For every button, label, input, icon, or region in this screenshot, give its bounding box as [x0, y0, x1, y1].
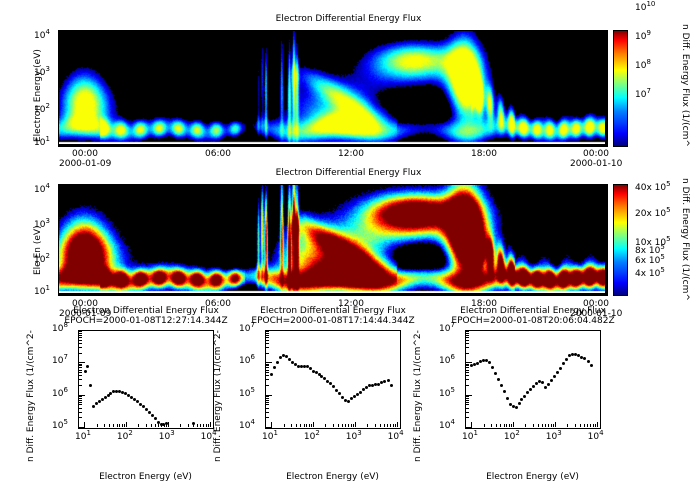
spectrum-3-ytick-minor: [466, 353, 469, 354]
spectrum-1-xtick-minor: [104, 424, 105, 427]
spectrum-2-ytick-minor: [266, 385, 269, 386]
spectrum-3-ytick-minor: [466, 337, 469, 338]
spectrum-1-plot[interactable]: [78, 330, 214, 429]
spectrum-3-xtick-minor: [525, 424, 526, 427]
middle-ytick-2-mant: 10: [34, 255, 45, 265]
spectrum-1-xtick-minor: [206, 424, 207, 427]
middle-ytick-4-exp: 4: [45, 182, 49, 190]
ytick-exp: 4: [250, 418, 254, 426]
data-point: [587, 360, 590, 363]
data-point: [491, 366, 494, 369]
spectrum-3-xtick-minor: [542, 424, 543, 427]
spectrum-3-title: Electron Differential Energy Flux: [403, 306, 663, 316]
top-cbar-tick-7-exp: 7: [646, 87, 650, 95]
spectrum-2-ytick-minor: [266, 396, 269, 397]
spectrum-3-xtick-mark: [513, 422, 514, 427]
spectrum-3-ytick-minor: [466, 412, 469, 413]
top-cbar-tick-10-exp: 10: [646, 0, 655, 8]
top-spectrogram[interactable]: [58, 30, 608, 147]
spectrum-1-ytick-minor: [79, 335, 82, 336]
middle-cbar-tick-4: 4x 105: [635, 269, 665, 279]
spectrum-2-ytick-minor: [266, 367, 269, 368]
spectrum-3-xtick-minor: [548, 424, 549, 427]
spectrum-1-xtick-3: 103: [159, 432, 175, 442]
spectrum-1-ytick-minor: [79, 372, 82, 373]
spectrum-3-xtick-mark: [471, 422, 472, 427]
top-cbar-tick-7-mant: 10: [635, 90, 646, 100]
spectrum-2-ytick-minor: [266, 400, 269, 401]
top-xtick-5: 00:00: [583, 149, 609, 159]
data-point: [500, 384, 503, 387]
spectrum-1-xtick-minor: [113, 424, 114, 427]
spectrum-3-ytick-4: 107: [439, 324, 455, 334]
spectrum-2-xtick-minor: [325, 424, 326, 427]
spectrum-1-xtick-minor: [180, 424, 181, 427]
middle-cbar-tick-6: 6x 105: [635, 256, 665, 266]
spectrum-2-ytick-minor: [266, 404, 269, 405]
ytick-mant: 10: [52, 324, 63, 334]
xtick-mant: 10: [159, 432, 170, 442]
top-xtick-2: 06:00: [205, 149, 231, 159]
spectrum-3-ytick-minor: [466, 408, 469, 409]
top-cbar-tick-10: 1010: [635, 3, 655, 13]
spectrum-2-ytick-minor: [266, 398, 269, 399]
xtick-exp: 1: [473, 429, 477, 437]
spectrum-3-ytick-mark: [466, 330, 472, 331]
top-ytick-3-mant: 10: [34, 68, 45, 78]
spectrum-2-ytick-minor: [266, 372, 269, 373]
spectrum-1-ytick-minor: [79, 404, 82, 405]
spectrum-2-ytick-minor: [266, 335, 269, 336]
middle-ytick-3-mant: 10: [34, 220, 45, 230]
ytick-exp: 5: [63, 418, 67, 426]
spectrum-2-ytick-minor: [266, 343, 269, 344]
spectrum-3-xtick-minor: [484, 424, 485, 427]
spectrum-2-xtick-minor: [367, 424, 368, 427]
spectrum-1-ylabel: n Diff. Energy Flux (1/(cm^2-: [26, 312, 36, 462]
spectrum-2-ytick-4: 107: [239, 324, 255, 334]
xtick-mant: 10: [262, 432, 273, 442]
spectrum-1-ytick-minor: [79, 333, 82, 334]
top-ytick-2-exp: 2: [45, 102, 49, 110]
spectrum-3-xtick-minor: [509, 424, 510, 427]
middle-cbar-tick-40-mant: 40: [635, 183, 646, 193]
spectrum-2-xtick-minor: [291, 424, 292, 427]
data-point: [276, 361, 279, 364]
data-point: [151, 414, 154, 417]
xtick-exp: 2: [128, 429, 132, 437]
top-cbar-tick-9: 109: [635, 32, 651, 42]
spectrum-2-xtick-mark: [355, 422, 356, 427]
spectrum-2-ytick-minor: [266, 333, 269, 334]
spectrum-3-ytick-minor: [466, 398, 469, 399]
spectrum-2-xlabel: Electron Energy (eV): [245, 472, 420, 482]
spectrum-3-ytick-1: 104: [439, 421, 455, 431]
spectrum-3-ytick-minor: [466, 343, 469, 344]
spectrum-3-xtick-minor: [551, 424, 552, 427]
spectrum-1-xtick-minor: [97, 424, 98, 427]
spectrum-2-xtick-minor: [333, 424, 334, 427]
ytick-mant: 10: [439, 421, 450, 431]
spectrum-3-xtick-minor: [595, 424, 596, 427]
middle-cbar-tick-40: 40x 105: [635, 183, 671, 193]
spectrum-3-ytick-2: 105: [439, 389, 455, 399]
data-point: [291, 361, 294, 364]
spectrum-3-ytick-minor: [466, 367, 469, 368]
spectrum-3-xtick-mark: [597, 422, 598, 427]
spectrum-1-xtick-minor: [197, 424, 198, 427]
ytick-exp: 7: [450, 321, 454, 329]
spectrum-2-xtick-4: 104: [388, 432, 404, 442]
spectrum-2-plot[interactable]: [265, 330, 401, 429]
spectrum-1-ytick-minor: [79, 343, 82, 344]
spectrum-2-ytick-minor: [266, 331, 269, 332]
data-point: [506, 397, 509, 400]
xtick-mant: 10: [75, 432, 86, 442]
spectrum-1-xtick-2: 102: [117, 432, 133, 442]
spectrum-3-xtick-minor: [533, 424, 534, 427]
ytick-mant: 10: [239, 324, 250, 334]
spectrum-2-ytick-minor: [266, 340, 269, 341]
middle-cbar-tick-6-mant: 6: [635, 256, 641, 266]
spectrum-3-xtick-minor: [506, 424, 507, 427]
xtick-mant: 10: [201, 432, 212, 442]
spectrum-3-ytick-minor: [466, 396, 469, 397]
spectrum-3-ytick-mark: [466, 427, 472, 428]
data-point: [488, 361, 491, 364]
spectrum-2-xtick-minor: [348, 424, 349, 427]
top-ytick-4: 104: [34, 31, 50, 41]
spectrum-1-ytick-minor: [79, 417, 82, 418]
spectrum-2-xtick-minor: [351, 424, 352, 427]
spectrum-3-xtick-3: 103: [546, 432, 562, 442]
spectrum-2-ylabel: n Diff. Energy Flux (1/(cm^2-: [213, 312, 223, 462]
spectrum-1-ytick-2: 106: [52, 389, 68, 399]
spectrum-2-ytick-minor: [266, 337, 269, 338]
spectrum-2-ytick-2: 105: [239, 389, 255, 399]
spectrum-3-xtick-minor: [553, 424, 554, 427]
top-cbar-tick-9-exp: 9: [646, 29, 650, 37]
xtick-mant: 10: [546, 432, 557, 442]
spectrum-1-xlabel: Electron Energy (eV): [58, 472, 233, 482]
spectrum-2-xtick-minor: [309, 424, 310, 427]
middle-spectrogram[interactable]: [58, 184, 608, 296]
ytick-mant: 10: [239, 421, 250, 431]
middle-cbar-tick-4-exp: 5: [660, 266, 664, 274]
spectrum-3-ytick-minor: [466, 364, 469, 365]
spectrum-2-ytick-minor: [266, 347, 269, 348]
middle-ytick-3-exp: 3: [45, 217, 49, 225]
spectrum-1-ytick-minor: [79, 370, 82, 371]
spectrum-3-ytick-mark: [466, 395, 472, 396]
spectrum-1-xtick-minor: [138, 424, 139, 427]
ytick-exp: 6: [250, 353, 254, 361]
spectrum-2-xtick-2: 102: [304, 432, 320, 442]
top-xtick-4: 18:00: [471, 149, 497, 159]
ytick-exp: 5: [450, 386, 454, 394]
spectrum-1-xtick-mark: [126, 422, 127, 427]
spectrum-3-xtick-minor: [580, 424, 581, 427]
top-cbar-tick-8-exp: 8: [646, 58, 650, 66]
data-point: [497, 378, 500, 381]
data-point: [503, 390, 506, 393]
spectrum-1-xtick-minor: [208, 424, 209, 427]
data-point: [270, 373, 273, 376]
spectrum-3-xtick-minor: [590, 424, 591, 427]
spectrum-3-xtick-1: 101: [462, 432, 478, 442]
spectrum-3-ytick-minor: [466, 417, 469, 418]
spectrum-1-xtick-minor: [122, 424, 123, 427]
spectrum-3-xlabel: Electron Energy (eV): [445, 472, 620, 482]
spectrum-2-xtick-minor: [296, 424, 297, 427]
middle-ytick-4: 104: [34, 185, 50, 195]
data-point: [92, 405, 95, 408]
spectrum-1-ytick-mark: [79, 395, 85, 396]
data-point: [515, 406, 518, 409]
spectrum-2-ytick-minor: [266, 412, 269, 413]
top-cbar-tick-8-mant: 10: [635, 61, 646, 71]
top-xtick-1: 00:00: [72, 149, 98, 159]
top-ytick-3: 103: [34, 68, 50, 78]
spectrum-2-xtick-minor: [390, 424, 391, 427]
spectrum-2-xtick-3: 103: [346, 432, 362, 442]
xtick-mant: 10: [504, 432, 515, 442]
ytick-mant: 10: [439, 389, 450, 399]
spectrum-3-xtick-minor: [504, 424, 505, 427]
spectrum-2-ytick-minor: [266, 417, 269, 418]
spectrum-2-xtick-minor: [311, 424, 312, 427]
spectrum-1-ytick-minor: [79, 396, 82, 397]
spectrum-1-ytick-minor: [79, 398, 82, 399]
top-ytick-2-mant: 10: [34, 105, 45, 115]
spectrum-2-xtick-mark: [313, 422, 314, 427]
xtick-exp: 1: [86, 429, 90, 437]
spectrum-1-ytick-minor: [79, 353, 82, 354]
top-ytick-2: 102: [34, 105, 50, 115]
top-ytick-1-exp: 1: [45, 135, 49, 143]
middle-cbar-tick-10-exp: 5: [666, 235, 670, 243]
ytick-mant: 10: [439, 356, 450, 366]
spectrum-2-xtick-minor: [387, 424, 388, 427]
spectrum-1-xtick-minor: [200, 424, 201, 427]
xtick-exp: 3: [357, 429, 361, 437]
top-xtick-3: 12:00: [338, 149, 364, 159]
middle-ytick-1-exp: 1: [45, 284, 49, 292]
data-point: [148, 411, 151, 414]
ytick-exp: 7: [63, 353, 67, 361]
middle-cbar-tick-20-mant: 20: [635, 209, 646, 219]
spectrum-3-xtick-minor: [500, 424, 501, 427]
spectrum-2-ytick-mark: [266, 395, 272, 396]
spectrum-2-xtick-minor: [353, 424, 354, 427]
xtick-exp: 4: [599, 429, 603, 437]
spectrum-3-xtick-minor: [567, 424, 568, 427]
top-cbar-tick-7: 107: [635, 90, 651, 100]
spectrum-1-ytick-mark: [79, 362, 85, 363]
top-cbar-tick-9-mant: 10: [635, 32, 646, 42]
spectrum-2-ytick-minor: [266, 353, 269, 354]
data-point: [341, 396, 344, 399]
middle-cbar-tick-6-exp: 5: [660, 253, 664, 261]
xtick-mant: 10: [346, 432, 357, 442]
spectrum-1-ytick-minor: [79, 408, 82, 409]
spectrum-3-xtick-minor: [491, 424, 492, 427]
spectrum-1-ytick-minor: [79, 364, 82, 365]
middle-ytick-4-mant: 10: [34, 185, 45, 195]
middle-panel-title: Electron Differential Energy Flux: [0, 168, 697, 178]
data-point: [335, 389, 338, 392]
spectrum-2-ytick-minor: [266, 408, 269, 409]
middle-ytick-2-exp: 2: [45, 252, 49, 260]
spectrum-3-ytick-minor: [466, 335, 469, 336]
top-ytick-3-exp: 3: [45, 65, 49, 73]
spectrum-3-xtick-minor: [587, 424, 588, 427]
spectrum-3-ytick-minor: [466, 365, 469, 366]
xtick-exp: 3: [170, 429, 174, 437]
spectrum-2-xtick-minor: [338, 424, 339, 427]
top-ytick-4-mant: 10: [34, 31, 45, 41]
spectrum-2-xtick-mark: [397, 422, 398, 427]
spectrum-3-plot[interactable]: [465, 330, 601, 429]
spectrum-3-ytick-minor: [466, 379, 469, 380]
spectrum-1-ytick-minor: [79, 400, 82, 401]
data-point: [86, 365, 89, 368]
spectrum-1-ytick-minor: [79, 375, 82, 376]
ytick-exp: 6: [450, 353, 454, 361]
spectrum-3-ytick-minor: [466, 331, 469, 332]
spectrum-3-ytick-minor: [466, 400, 469, 401]
top-ytick-1-mant: 10: [34, 138, 45, 148]
spectrum-1-xtick-minor: [124, 424, 125, 427]
spectrum-1-ytick-minor: [79, 347, 82, 348]
spectrum-2-xtick-minor: [395, 424, 396, 427]
spectrum-2-xtick-minor: [300, 424, 301, 427]
spectrum-3-ytick-minor: [466, 402, 469, 403]
xtick-exp: 4: [399, 429, 403, 437]
ytick-exp: 8: [63, 321, 67, 329]
middle-ytick-1: 101: [34, 287, 50, 297]
spectrum-2-xtick-minor: [375, 424, 376, 427]
spectrum-2-ytick-minor: [266, 379, 269, 380]
xtick-mant: 10: [588, 432, 599, 442]
middle-ytick-2: 102: [34, 255, 50, 265]
ytick-mant: 10: [439, 324, 450, 334]
spectrum-3-xtick-minor: [575, 424, 576, 427]
spectrum-1-ytick-minor: [79, 379, 82, 380]
data-point: [104, 396, 107, 399]
top-colorbar-ticks: [626, 30, 634, 145]
spectrum-3-xtick-minor: [545, 424, 546, 427]
spectrum-1-ytick-mark: [79, 330, 85, 331]
spectrum-2-xtick-minor: [345, 424, 346, 427]
xtick-exp: 2: [515, 429, 519, 437]
spectrum-1-xtick-minor: [146, 424, 147, 427]
spectrum-3-ytick-minor: [466, 347, 469, 348]
spectrum-1-xtick-minor: [203, 424, 204, 427]
spectrum-2-ytick-1: 104: [239, 421, 255, 431]
spectrum-1-ytick-minor: [79, 331, 82, 332]
spectrum-3-ytick-minor: [466, 333, 469, 334]
top-ytick-1: 101: [34, 138, 50, 148]
spectrum-3-ylabel: n Diff. Energy Flux (1/(cm^2-: [413, 312, 423, 462]
spectrum-2-ytick-minor: [266, 365, 269, 366]
spectrum-3-xtick-minor: [496, 424, 497, 427]
spectrum-3-ytick-minor: [466, 404, 469, 405]
spectrum-3-xtick-minor: [584, 424, 585, 427]
spectrum-3-ytick-minor: [466, 370, 469, 371]
spectrum-1-ytick-minor: [79, 385, 82, 386]
spectrum-3-ytick-minor: [466, 385, 469, 386]
middle-cbar-tick-8-exp: 5: [660, 243, 664, 251]
spectrum-1-xtick-mark: [210, 422, 211, 427]
spectrum-1-ytick-4: 108: [52, 324, 68, 334]
spectrum-2-xtick-minor: [393, 424, 394, 427]
spectrum-1-ytick-minor: [79, 367, 82, 368]
spectrum-1-ytick-minor: [79, 412, 82, 413]
spectrum-3-xtick-2: 102: [504, 432, 520, 442]
xtick-mant: 10: [388, 432, 399, 442]
spectrum-1-ytick-minor: [79, 365, 82, 366]
spectrum-2-xtick-1: 101: [262, 432, 278, 442]
spectrum-3-ytick-mark: [466, 362, 472, 363]
middle-cbar-tick-20: 20x 105: [635, 209, 671, 219]
data-point: [101, 398, 104, 401]
data-point: [84, 370, 87, 373]
spectrum-1-ytick-minor: [79, 402, 82, 403]
top-cbar-tick-8: 108: [635, 61, 651, 71]
spectrum-1-xtick-minor: [109, 424, 110, 427]
spectrum-1-xtick-mark: [84, 422, 85, 427]
middle-colorbar-label: n Diff. Energy Flux (1/(cm^: [680, 178, 690, 318]
spectrum-1-ytick-mark: [79, 427, 85, 428]
spectrum-1-ytick-minor: [79, 337, 82, 338]
ytick-exp: 7: [250, 321, 254, 329]
spectrum-2-ytick-minor: [266, 364, 269, 365]
spectrum-2-ytick-minor: [266, 370, 269, 371]
middle-ytick-3: 103: [34, 220, 50, 230]
ytick-mant: 10: [52, 389, 63, 399]
data-point: [154, 417, 157, 420]
spectrum-3-xtick-minor: [538, 424, 539, 427]
spectrum-1-xtick-1: 101: [75, 432, 91, 442]
spectrum-1-ytick-3: 107: [52, 356, 68, 366]
spectrum-1-xtick-minor: [117, 424, 118, 427]
top-panel-title: Electron Differential Energy Flux: [0, 14, 697, 24]
data-point: [89, 384, 92, 387]
ytick-mant: 10: [52, 356, 63, 366]
spectrum-2-xtick-minor: [284, 424, 285, 427]
xtick-mant: 10: [304, 432, 315, 442]
ytick-mant: 10: [52, 421, 63, 431]
xtick-exp: 3: [557, 429, 561, 437]
ytick-exp: 5: [250, 386, 254, 394]
ytick-mant: 10: [239, 356, 250, 366]
spectrum-2-xtick-minor: [384, 424, 385, 427]
spectrum-3-xtick-minor: [511, 424, 512, 427]
spectrum-3-ytick-minor: [466, 372, 469, 373]
spectrum-3-xtick-mark: [555, 422, 556, 427]
middle-cbar-tick-8-mant: 8: [635, 246, 641, 256]
spectrum-2-xtick-minor: [304, 424, 305, 427]
spectrum-2-xtick-mark: [271, 422, 272, 427]
data-point: [494, 372, 497, 375]
spectrum-3-ytick-minor: [466, 375, 469, 376]
spectrum-2-ytick-minor: [266, 375, 269, 376]
spectrum-2-ytick-mark: [266, 427, 272, 428]
top-ytick-4-exp: 4: [45, 28, 49, 36]
data-point: [288, 358, 291, 361]
data-point: [285, 355, 288, 358]
